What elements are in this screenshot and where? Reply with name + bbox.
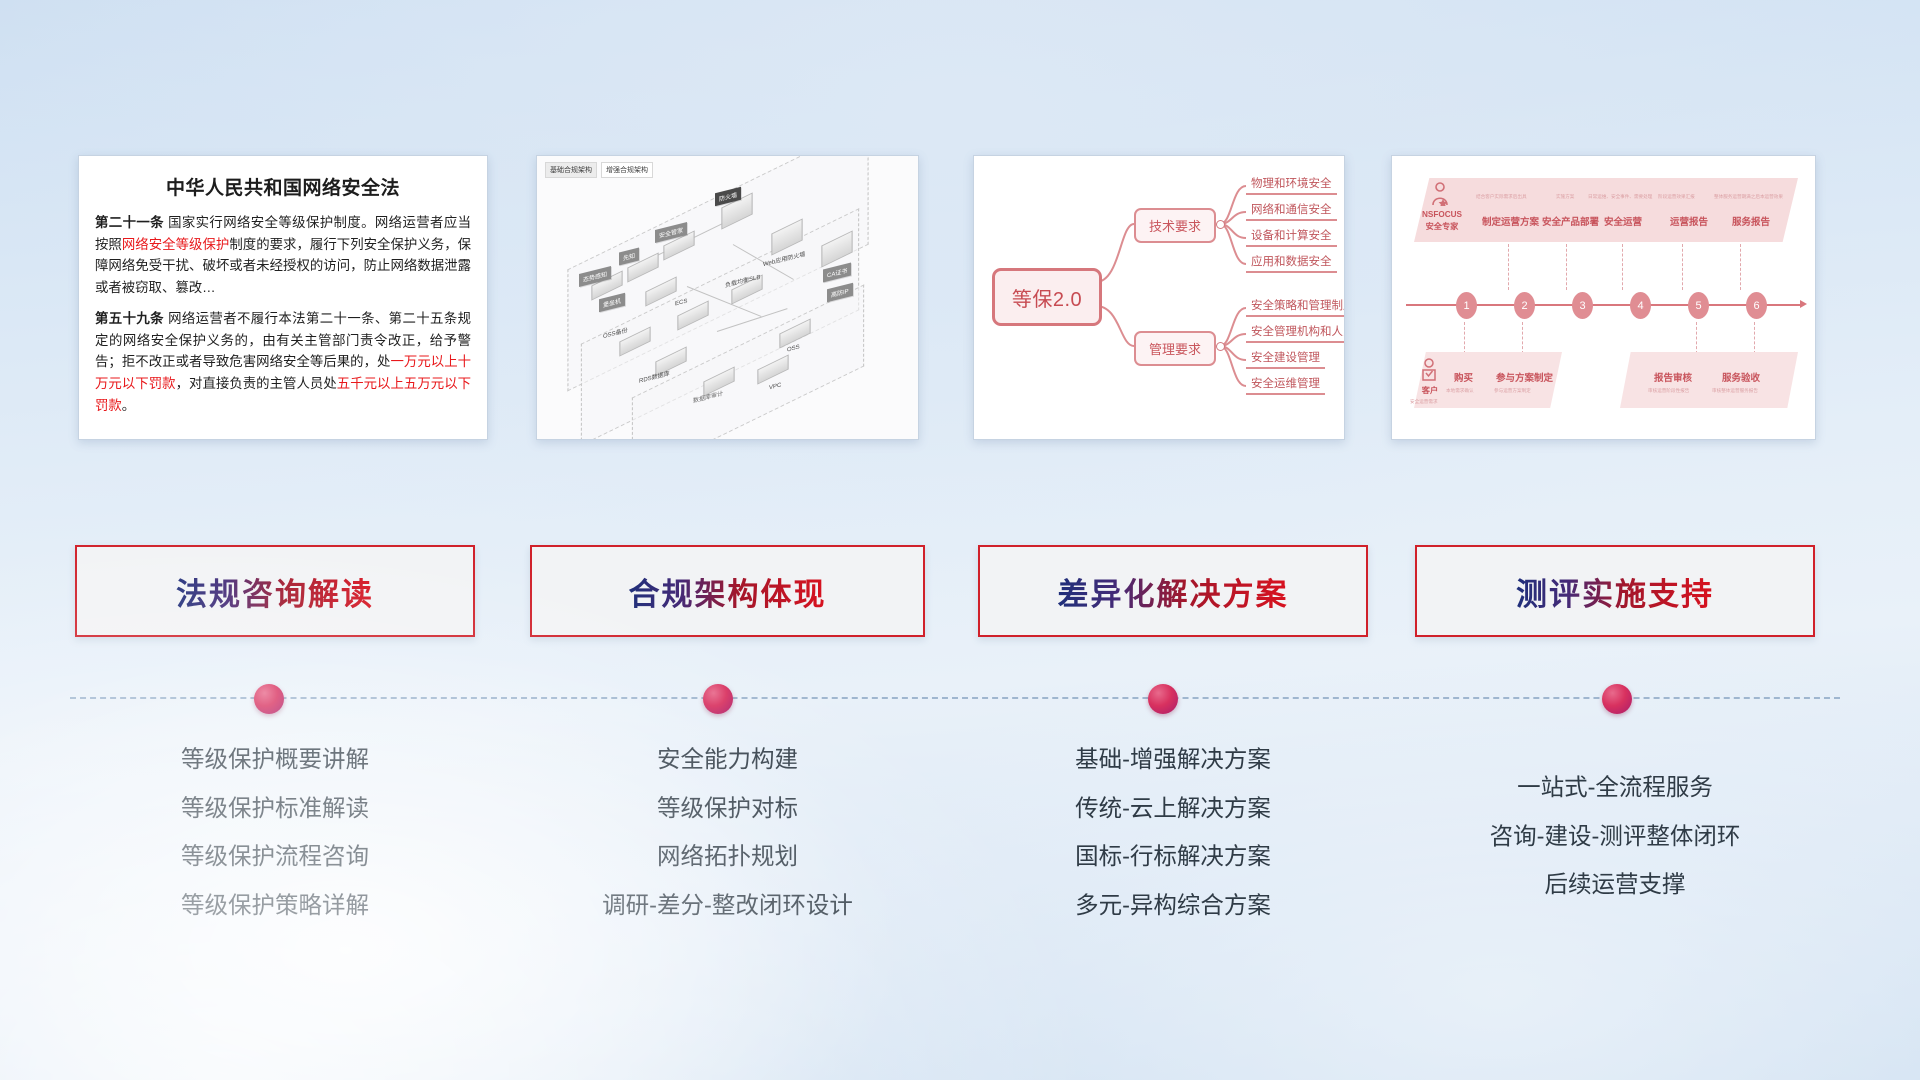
list-item: 等级保护对标 [530, 797, 925, 821]
law-seg-21-1: 网络安全等级保护 [122, 237, 229, 252]
nsfocus-lower-sub-0: 本地需求确认 [1446, 388, 1474, 394]
mindmap-leaf-mgmt-0: 安全策略和管理制度 [1246, 296, 1345, 317]
nsfocus-dropper-2 [1566, 244, 1568, 290]
timeline-dot-1[interactable] [254, 684, 284, 714]
timeline-dot-2[interactable] [703, 684, 733, 714]
list-item: 后续运营支撑 [1415, 873, 1815, 897]
list-item: 一站式-全流程服务 [1415, 776, 1815, 800]
card-nsfocus-service-timeline[interactable]: NSFOCUS 安全专家 结合客户实际需求后出具 制定运营方案 实施方案 安全产… [1391, 155, 1816, 440]
section-list-4: 一站式-全流程服务 咨询-建设-测评整体闭环 后续运营支撑 [1415, 776, 1815, 922]
mindmap-knob-technical[interactable] [1216, 220, 1225, 229]
nsfocus-dropper-5 [1740, 244, 1742, 290]
list-item: 等级保护流程咨询 [75, 845, 475, 869]
nsfocus-upper-sub-0: 结合客户实际需求后出具 [1476, 194, 1527, 200]
list-item: 多元-异构综合方案 [978, 894, 1368, 918]
nsfocus-dropper-3 [1622, 244, 1624, 290]
list-item: 等级保护策略详解 [75, 894, 475, 918]
nsfocus-brand-line2: 安全专家 [1414, 222, 1470, 232]
law-paragraph-21: 第二十一条 国家实行网络安全等级保护制度。网络运营者应当按照网络安全等级保护制度… [95, 212, 471, 299]
nsfocus-upper-sub-2: 日常运维、安全事件、需要处理 [1588, 194, 1652, 200]
mindmap-leaf-tech-1: 网络和通信安全 [1246, 200, 1337, 221]
law-document: 中华人民共和国网络安全法 第二十一条 国家实行网络安全等级保护制度。网络运营者应… [79, 156, 487, 439]
list-item: 网络拓扑规划 [530, 845, 925, 869]
nsfocus-node-2[interactable]: 2 [1514, 292, 1535, 319]
section-list-2: 安全能力构建 等级保护对标 网络拓扑规划 调研-差分-整改闭环设计 [530, 748, 925, 942]
nsfocus-timeline: NSFOCUS 安全专家 结合客户实际需求后出具 制定运营方案 实施方案 安全产… [1392, 156, 1815, 439]
section-titles-row: 法规咨询解读 合规架构体现 差异化解决方案 测评实施支持 [0, 545, 1920, 641]
mindmap-branch-technical[interactable]: 技术要求 [1134, 208, 1216, 243]
timeline-dot-3[interactable] [1148, 684, 1178, 714]
section-title-text-2: 合规架构体现 [629, 569, 827, 614]
section-title-text-4: 测评实施支持 [1516, 569, 1714, 614]
nsfocus-node-5[interactable]: 5 [1688, 292, 1709, 319]
list-item: 调研-差分-整改闭环设计 [530, 894, 925, 918]
mindmap-root-node[interactable]: 等保2.0 [992, 268, 1102, 326]
nsfocus-dropper-1 [1508, 244, 1510, 290]
mindmap-leaf-mgmt-1: 安全管理机构和人员 [1246, 322, 1345, 343]
card-dengbao-mindmap[interactable]: 等保2.0 技术要求 管理要求 物理和环境安全 网络和通信安全 设备和计算安全 … [973, 155, 1345, 440]
tab-enhanced-architecture[interactable]: 增强合规架构 [601, 162, 653, 178]
nsfocus-upper-sub-3: 阶段运营效果汇报 [1658, 194, 1695, 200]
nsfocus-axis-arrow [1800, 300, 1807, 308]
law-paragraph-59: 第五十九条 网络运营者不履行本法第二十一条、第二十五条规定的网络安全保护义务的，… [95, 308, 471, 417]
mindmap-branch-management[interactable]: 管理要求 [1134, 331, 1216, 366]
nsfocus-dropper-low-4 [1754, 322, 1756, 354]
nsfocus-lower-title-1: 参与方案制定 [1496, 370, 1553, 384]
law-seg-59-4: 。 [122, 398, 135, 413]
tab-basic-architecture[interactable]: 基础合规架构 [545, 162, 597, 178]
nsfocus-upper-title-4: 服务报告 [1732, 214, 1770, 228]
section-title-text-1: 法规咨询解读 [176, 569, 374, 614]
nsfocus-node-4[interactable]: 4 [1630, 292, 1651, 319]
image-cards-row: 中华人民共和国网络安全法 第二十一条 国家实行网络安全等级保护制度。网络运营者应… [0, 155, 1920, 445]
nsfocus-lower-title-3: 服务验收 [1722, 370, 1760, 384]
nsfocus-lower-band-right [1620, 352, 1798, 408]
section-title-box-2[interactable]: 合规架构体现 [530, 545, 925, 637]
mindmap-knob-management[interactable] [1216, 342, 1225, 351]
nsfocus-lower-title-0: 购买 [1454, 370, 1473, 384]
nsfocus-upper-title-3: 运营报告 [1670, 214, 1708, 228]
law-seg-59-2: ，对直接负责的主管人员处 [176, 376, 337, 391]
section-title-box-3[interactable]: 差异化解决方案 [978, 545, 1368, 637]
nsfocus-lower-title-2: 报告审核 [1654, 370, 1692, 384]
nsfocus-dropper-4 [1682, 244, 1684, 290]
nsfocus-node-3[interactable]: 3 [1572, 292, 1593, 319]
section-list-1: 等级保护概要讲解 等级保护标准解读 等级保护流程咨询 等级保护策略详解 [75, 748, 475, 942]
timeline-dashed-line [70, 697, 1840, 702]
section-title-box-4[interactable]: 测评实施支持 [1415, 545, 1815, 637]
nsfocus-lower-sub-2: 审核运营阶段性报告 [1648, 388, 1689, 394]
law-article-label-59: 第五十九条 [95, 311, 164, 326]
nsfocus-upper-sub-4: 整体服务运营期满之后本运营效果 [1714, 194, 1783, 200]
nsfocus-brand-line1: NSFOCUS [1414, 210, 1470, 220]
customer-person-icon [1420, 358, 1438, 382]
nsfocus-dropper-low-1 [1464, 322, 1466, 354]
nsfocus-lower-sub-1: 参与运营方案制定 [1494, 388, 1531, 394]
nsfocus-customer-sub: 安全运营需求 [1410, 399, 1438, 405]
nsfocus-upper-sub-1: 实施方案 [1556, 194, 1574, 200]
architecture-tabs[interactable]: 基础合规架构 增强合规架构 [545, 162, 653, 178]
law-title: 中华人民共和国网络安全法 [95, 173, 471, 200]
card-compliance-architecture[interactable]: 基础合规架构 增强合规架构 [536, 155, 919, 440]
mindmap-leaf-tech-3: 应用和数据安全 [1246, 252, 1337, 273]
section-lists-row: 等级保护概要讲解 等级保护标准解读 等级保护流程咨询 等级保护策略详解 安全能力… [0, 740, 1920, 1040]
nsfocus-dropper-low-2 [1522, 322, 1524, 354]
mindmap: 等保2.0 技术要求 管理要求 物理和环境安全 网络和通信安全 设备和计算安全 … [974, 156, 1344, 439]
list-item: 国标-行标解决方案 [978, 845, 1368, 869]
list-item: 等级保护概要讲解 [75, 748, 475, 772]
nsfocus-upper-title-0: 制定运营方案 [1482, 214, 1539, 228]
list-item: 传统-云上解决方案 [978, 797, 1368, 821]
nsfocus-node-6[interactable]: 6 [1746, 292, 1767, 319]
slide-canvas: 中华人民共和国网络安全法 第二十一条 国家实行网络安全等级保护制度。网络运营者应… [0, 0, 1920, 1080]
nsfocus-upper-title-1: 安全产品部署 [1542, 214, 1599, 228]
nsfocus-upper-band [1414, 178, 1798, 242]
nsfocus-dropper-low-3 [1696, 322, 1698, 354]
nsfocus-customer-label: 客户 [1414, 386, 1446, 396]
list-item: 等级保护标准解读 [75, 797, 475, 821]
expert-person-icon [1430, 182, 1450, 206]
mindmap-leaf-tech-2: 设备和计算安全 [1246, 226, 1337, 247]
list-item: 安全能力构建 [530, 748, 925, 772]
mindmap-leaf-tech-0: 物理和环境安全 [1246, 174, 1337, 195]
mindmap-leaf-mgmt-2: 安全建设管理 [1246, 348, 1325, 369]
mindmap-leaf-mgmt-3: 安全运维管理 [1246, 374, 1325, 395]
architecture-diagram: 基础合规架构 增强合规架构 [537, 156, 918, 439]
list-item: 基础-增强解决方案 [978, 748, 1368, 772]
section-list-3: 基础-增强解决方案 传统-云上解决方案 国标-行标解决方案 多元-异构综合方案 [978, 748, 1368, 942]
law-article-label-21: 第二十一条 [95, 215, 164, 230]
nsfocus-upper-title-2: 安全运营 [1604, 214, 1642, 228]
nsfocus-lower-sub-3: 审核整体运营服务报告 [1712, 388, 1758, 394]
timeline-dot-4[interactable] [1602, 684, 1632, 714]
section-title-box-1[interactable]: 法规咨询解读 [75, 545, 475, 637]
card-cybersecurity-law[interactable]: 中华人民共和国网络安全法 第二十一条 国家实行网络安全等级保护制度。网络运营者应… [78, 155, 488, 440]
nsfocus-node-1[interactable]: 1 [1456, 292, 1477, 319]
section-title-text-3: 差异化解决方案 [1058, 569, 1289, 614]
list-item: 咨询-建设-测评整体闭环 [1415, 825, 1815, 849]
